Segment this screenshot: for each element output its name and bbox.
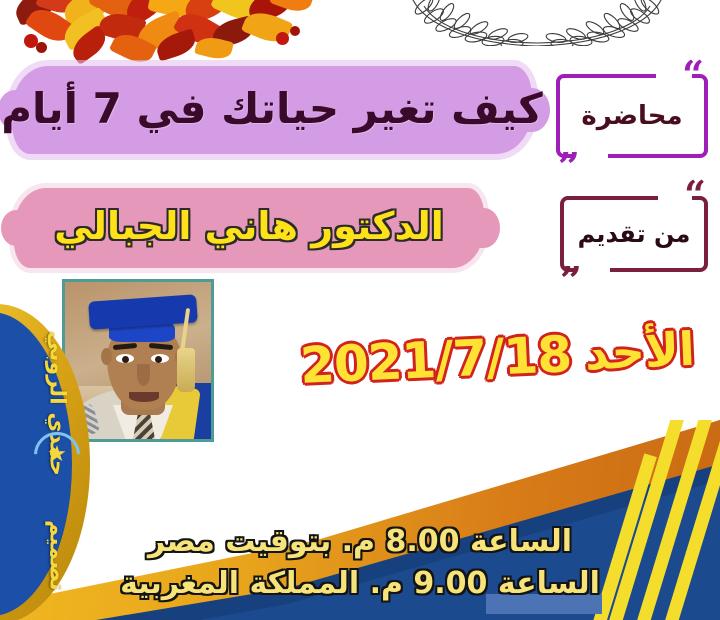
footer-panel: الساعة 8.00 م. بتوقيت مصر الساعة 9.00 م.… (0, 420, 720, 620)
event-date-value: 2021/7/18 (299, 325, 572, 395)
event-time-morocco: الساعة 9.00 م. المملكة المغربية (0, 563, 720, 606)
lecture-type-badge: “ محاضرة ” (556, 74, 708, 158)
quote-close-icon: ” (558, 152, 580, 182)
page-title: كيف تغير حياتك في 7 أيام (1, 84, 542, 137)
presented-by-badge: “ من تقديم ” (560, 196, 708, 272)
lecture-badge-label: محاضرة (581, 101, 682, 131)
presenter-name: الدكتور هاني الجبالي (54, 204, 444, 252)
quote-open-icon: “ (682, 60, 704, 90)
quote-open-icon: “ (684, 180, 706, 210)
quote-close-icon: ” (560, 266, 582, 296)
lecture-title-banner: كيف تغير حياتك في 7 أيام (12, 66, 532, 154)
designer-label: تصميم (45, 520, 70, 591)
event-time-egypt: الساعة 8.00 م. بتوقيت مصر (0, 521, 720, 564)
designer-credit-badge: ★ تصميم حمدي الروبي (0, 304, 90, 620)
event-day-name: الأحد (584, 322, 696, 381)
laurel-wreath-icon: جمعية الشرفاء وأصحاب المبادئ (372, 0, 702, 46)
presented-by-label: من تقديم (578, 220, 691, 248)
autumn-leaves-icon (8, 0, 308, 62)
star-icon: ★ (44, 442, 70, 468)
presenter-name-banner: الدكتور هاني الجبالي (14, 188, 484, 268)
event-poster: جمعية الشرفاء وأصحاب المبادئ (0, 0, 720, 620)
event-times: الساعة 8.00 م. بتوقيت مصر الساعة 9.00 م.… (0, 521, 720, 606)
event-date: الأحد 2021/7/18 (299, 313, 712, 401)
